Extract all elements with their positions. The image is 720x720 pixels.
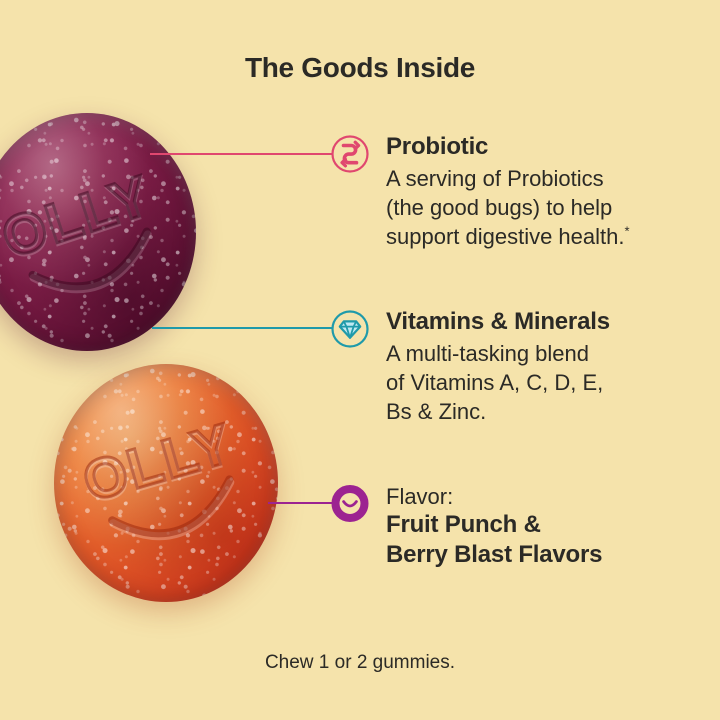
- feature-probiotic-description: A serving of Probiotics (the good bugs) …: [386, 164, 706, 252]
- page-title: The Goods Inside: [0, 52, 720, 84]
- connector-line-probiotic: [150, 153, 332, 155]
- feature-probiotic-heading: Probiotic: [386, 134, 706, 160]
- feature-flavor-value: Fruit Punch & Berry Blast Flavors: [386, 510, 706, 570]
- orange-gummy-image: OLLY OLLY: [54, 364, 278, 602]
- feature-probiotic-description-text: A serving of Probiotics (the good bugs) …: [386, 166, 625, 250]
- feature-probiotic: Probiotic A serving of Probiotics (the g…: [330, 134, 706, 252]
- intestine-icon: [330, 134, 370, 174]
- connector-line-vitamins: [152, 327, 332, 329]
- connector-line-flavor: [268, 502, 336, 504]
- feature-vitamins-description: A multi-tasking blend of Vitamins A, C, …: [386, 339, 706, 427]
- dosage-instruction: Chew 1 or 2 gummies.: [0, 652, 720, 674]
- gem-icon: [330, 309, 370, 349]
- feature-flavor: Flavor: Fruit Punch & Berry Blast Flavor…: [330, 484, 706, 570]
- smile-ring-icon: [330, 484, 370, 524]
- feature-probiotic-body: Probiotic A serving of Probiotics (the g…: [386, 134, 706, 252]
- berry-gummy-image: OLLY OLLY: [0, 113, 196, 351]
- orange-gummy-rim: [54, 364, 278, 602]
- feature-vitamins-body: Vitamins & Minerals A multi-tasking blen…: [386, 309, 706, 427]
- feature-flavor-label: Flavor:: [386, 484, 706, 509]
- berry-gummy-rim: [0, 113, 196, 351]
- product-benefits-infographic: The Goods Inside OLLY OLLY OLLY OLLY: [0, 0, 720, 720]
- feature-flavor-body: Flavor: Fruit Punch & Berry Blast Flavor…: [386, 484, 706, 570]
- feature-vitamins-minerals: Vitamins & Minerals A multi-tasking blen…: [330, 309, 706, 427]
- footnote-asterisk: *: [625, 224, 630, 239]
- feature-vitamins-heading: Vitamins & Minerals: [386, 309, 706, 335]
